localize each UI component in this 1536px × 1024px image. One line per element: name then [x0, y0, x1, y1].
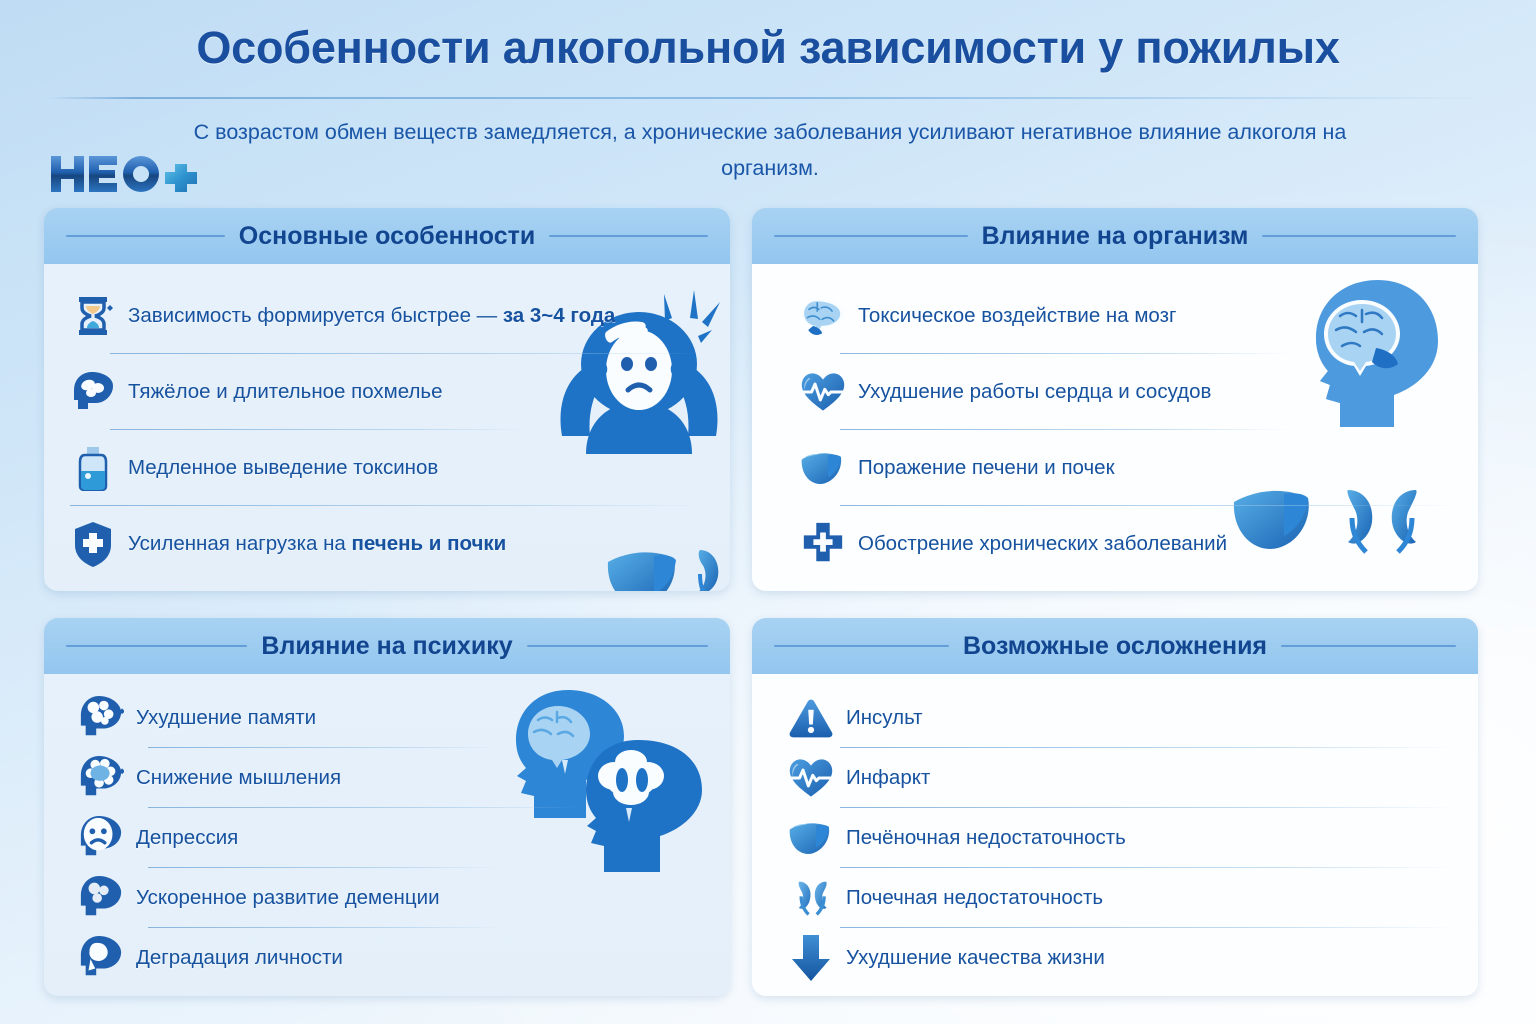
infographic-page: Особенности алкогольной зависимости у по… — [0, 0, 1536, 1024]
list-item: Снижение мышления — [44, 748, 730, 808]
header-rule-left — [774, 235, 968, 237]
card-title: Основные особенности — [239, 222, 536, 251]
header-rule-right — [527, 645, 708, 647]
list-item-label: Усиленная нагрузка на печень и почки — [128, 532, 506, 556]
card-header: Основные особенности — [44, 208, 730, 264]
page-title: Особенности алкогольной зависимости у по… — [0, 22, 1536, 74]
card-body: Инсульт Инф — [752, 674, 1478, 996]
hourglass-icon — [70, 293, 116, 339]
list-item: Усиленная нагрузка на печень и почки — [44, 506, 730, 582]
list-item-label: Ухудшение качества жизни — [846, 946, 1105, 970]
card-title: Возможные осложнения — [963, 632, 1267, 661]
feature-list: Зависимость формируется быстрее — за 3~4… — [44, 278, 730, 582]
card-complications: Возможные осложнения Инсульт — [752, 618, 1478, 996]
card-main-features: Основные особенности — [44, 208, 730, 591]
list-item: Инсульт — [752, 688, 1478, 748]
list-item-label: Зависимость формируется быстрее — за 3~4… — [128, 304, 615, 328]
list-item: Ухудшение памяти — [44, 688, 730, 748]
down-arrow-icon — [788, 935, 834, 981]
list-item: Поражение печени и почек — [752, 430, 1478, 506]
card-title: Влияние на организм — [982, 222, 1249, 251]
header-rule-right — [1262, 235, 1456, 237]
list-item-label: Почечная недостаточность — [846, 886, 1103, 910]
list-item: Ухудшение качества жизни — [752, 928, 1478, 988]
list-item: Почечная недостаточность — [752, 868, 1478, 928]
list-item-label: Деградация личности — [136, 946, 343, 970]
head-thinking-icon — [78, 755, 124, 801]
page-subtitle: С возрастом обмен веществ замедляется, а… — [150, 114, 1390, 186]
header-rule-left — [66, 235, 225, 237]
list-item-label: Снижение мышления — [136, 766, 341, 790]
list-item-label: Ускоренное развитие деменции — [136, 886, 440, 910]
list-item-label: Ухудшение работы сердца и сосудов — [858, 380, 1211, 404]
medical-cross-icon — [800, 521, 846, 567]
list-item: Зависимость формируется быстрее — за 3~4… — [44, 278, 730, 354]
liver-icon — [800, 445, 846, 491]
list-item-label: Тяжёлое и длительное похмелье — [128, 380, 443, 404]
list-item-label: Инфаркт — [846, 766, 930, 790]
card-title: Влияние на психику — [261, 632, 512, 661]
card-body: Токсическое воздействие на мозг — [752, 264, 1478, 591]
feature-list: Токсическое воздействие на мозг — [752, 278, 1478, 582]
list-item: Обострение хронических заболеваний — [752, 506, 1478, 582]
list-item-label: Поражение печени и почек — [858, 456, 1115, 480]
liver-icon — [788, 815, 834, 861]
list-item: Деградация личности — [44, 928, 730, 988]
neo-plus-logo — [47, 150, 207, 198]
head-degradation-icon — [78, 935, 124, 981]
list-item: Медленное выведение токсинов — [44, 430, 730, 506]
header-rule-left — [774, 645, 949, 647]
card-header: Возможные осложнения — [752, 618, 1478, 674]
list-item-label: Токсическое воздействие на мозг — [858, 304, 1176, 328]
list-item-label: Медленное выведение токсинов — [128, 456, 438, 480]
head-hangover-icon — [70, 369, 116, 415]
card-body: Ухудшение памяти — [44, 674, 730, 996]
head-sad-icon — [78, 815, 124, 861]
feature-list: Ухудшение памяти — [44, 688, 730, 988]
card-header: Влияние на организм — [752, 208, 1478, 264]
feature-list: Инсульт Инф — [752, 688, 1478, 988]
list-item-label: Депрессия — [136, 826, 238, 850]
kidneys-icon — [788, 875, 834, 921]
list-item-label: Обострение хронических заболеваний — [858, 532, 1227, 556]
heart-pulse-icon — [788, 755, 834, 801]
list-item: Печёночная недостаточность — [752, 808, 1478, 868]
card-mental-impact: Влияние на психику — [44, 618, 730, 996]
flask-icon — [70, 445, 116, 491]
head-dementia-icon — [78, 875, 124, 921]
warning-triangle-icon — [788, 695, 834, 741]
head-memory-icon — [78, 695, 124, 741]
brain-icon — [800, 293, 846, 339]
list-item-label: Печёночная недостаточность — [846, 826, 1126, 850]
heart-pulse-icon — [800, 369, 846, 415]
card-body: Зависимость формируется быстрее — за 3~4… — [44, 264, 730, 591]
list-item: Ускоренное развитие деменции — [44, 868, 730, 928]
header-rule-right — [549, 235, 708, 237]
title-divider — [46, 97, 1490, 99]
list-item: Ухудшение работы сердца и сосудов — [752, 354, 1478, 430]
header-rule-right — [1281, 645, 1456, 647]
list-item-label: Инсульт — [846, 706, 923, 730]
list-item: Инфаркт — [752, 748, 1478, 808]
list-item: Токсическое воздействие на мозг — [752, 278, 1478, 354]
card-body-impact: Влияние на организм — [752, 208, 1478, 591]
card-header: Влияние на психику — [44, 618, 730, 674]
header-rule-left — [66, 645, 247, 647]
shield-cross-icon — [70, 521, 116, 567]
list-item: Тяжёлое и длительное похмелье — [44, 354, 730, 430]
list-item: Депрессия — [44, 808, 730, 868]
list-item-label: Ухудшение памяти — [136, 706, 316, 730]
